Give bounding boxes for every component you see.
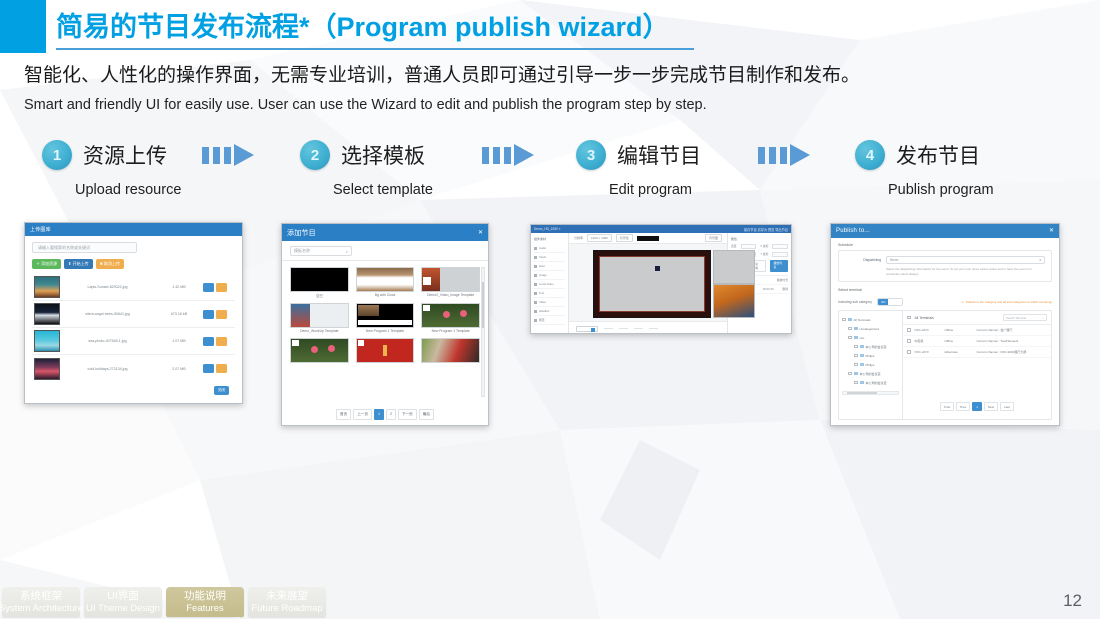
warning-text: Publish to the category and all sub-cate… <box>966 300 1052 304</box>
property-key: 宽度 <box>731 244 737 249</box>
sidebar-item-label: Image <box>539 273 547 277</box>
upload-window-title: 上传图库 <box>30 226 51 233</box>
scrollbar[interactable] <box>481 267 485 397</box>
file-thumbnail <box>34 330 60 352</box>
sub-category-toggle[interactable]: ON <box>877 298 903 306</box>
upload-file-list: Lapis-Sunset-829322.jpg 1.42 MB silent-a… <box>32 274 235 382</box>
template-thumbnail <box>290 267 349 292</box>
pagination-page-2[interactable]: 2 <box>386 409 396 420</box>
terminal-table-title: All Terminals <box>915 316 934 320</box>
tree-node-philips-2[interactable]: Philips <box>842 360 899 369</box>
text-icon <box>534 292 537 295</box>
table-row[interactable]: silent-angel-trees-50641.jpg 673.16 kB <box>32 301 235 328</box>
template-thumbnail <box>290 338 349 363</box>
checkbox[interactable] <box>848 327 852 331</box>
file-size: 2.07 MB <box>172 367 185 371</box>
file-size: 1.07 MB <box>172 339 185 343</box>
footer-tab-system-architecture[interactable]: 系统框架 System Architecture <box>2 587 80 617</box>
template-thumbnail <box>356 338 415 363</box>
close-button[interactable]: 关闭 <box>214 386 229 395</box>
row-actions <box>203 283 233 292</box>
step-2: 2 选择模板 Select template <box>300 134 433 204</box>
checkbox[interactable] <box>848 372 852 376</box>
tree-node-label: ceo <box>860 336 865 340</box>
list-item[interactable]: Bg with Clock <box>356 267 415 298</box>
sidebar-item-audio[interactable]: Audio <box>534 244 565 253</box>
footer-tab-label-cn: 未来展望 <box>266 590 308 603</box>
cancel-upload-button[interactable]: ✖ 取消上传 <box>96 259 124 269</box>
tree-node-label: Philips <box>866 354 875 358</box>
tree-node-label: 本公司的会议室 <box>860 372 881 376</box>
sidebar-item-label: Video <box>539 300 546 304</box>
pagination-last[interactable]: 最后 <box>419 409 434 420</box>
terminal-table: All Terminals Search Terminal ⌕ NXC-2273… <box>903 311 1051 419</box>
warning-icon: ⚠ <box>961 300 964 304</box>
publish-window-body: Schedule Dispatching Never ▾ Select the … <box>831 238 1059 426</box>
table-row[interactable]: Lapis-Sunset-829322.jpg 1.42 MB <box>32 274 235 301</box>
sidebar-item-local-video[interactable]: Local Video <box>534 280 565 289</box>
delete-icon[interactable] <box>216 337 227 346</box>
template-label: New Program 1 Template <box>356 329 415 333</box>
toggle-track <box>888 299 902 305</box>
template-label: New Program 1 Template <box>421 329 480 333</box>
pagination-last[interactable]: Last <box>1000 402 1014 411</box>
step-arrow-2-icon <box>482 144 538 166</box>
list-item[interactable]: Demo2_Video_image Template <box>421 267 480 298</box>
resolution-label: 分辨率 <box>574 236 583 240</box>
wizard-steps: 1 资源上传 Upload resource 2 选择模板 Select tem… <box>0 134 1100 204</box>
add-resource-button[interactable]: ＋ 添加资源 <box>32 259 61 269</box>
editor-component-sidebar: 组件素材 Audio Clock Html Image Local Video … <box>531 233 569 334</box>
step-3-label-cn: 编辑节目 <box>617 140 701 170</box>
folder-icon <box>848 318 852 321</box>
timeline-tick <box>634 328 643 329</box>
dispatching-row: Dispatching Never ▾ <box>845 256 1045 264</box>
template-thumbnail <box>290 303 349 328</box>
list-item[interactable]: New Program 1 Template <box>356 303 415 333</box>
page-title: 简易的节目发布流程*（Program publish wizard） <box>56 8 696 46</box>
file-name: sea-photo-407545-1.jpg <box>60 339 155 343</box>
terminal-channel: Current channel : NXC-9030展厅大屏 <box>977 350 1048 354</box>
resolution-value[interactable]: 1920 × 1080 <box>587 234 612 242</box>
template-thumbnail <box>421 267 480 292</box>
tree-node-label: All Terminals <box>854 318 871 322</box>
checkbox[interactable] <box>854 345 858 349</box>
footer-tab-label-cn: 功能说明 <box>184 590 226 603</box>
start-upload-button[interactable]: ⬆ 开始上传 <box>64 259 92 269</box>
sub-category-row: Including sub category ON ⚠ Publish to t… <box>838 298 1052 306</box>
terminal-tree: All Terminals Uncategorized ceo 本公司的会议室 … <box>839 311 903 419</box>
publish-window-title: Publish to... <box>836 228 870 234</box>
step-4-label-en: Publish program <box>888 182 994 198</box>
step-4-head: 4 发布节目 <box>855 134 994 176</box>
schedule-box: Dispatching Never ▾ Select the dispatchi… <box>838 250 1052 282</box>
stage-side-panel-top[interactable] <box>713 250 755 284</box>
property-input[interactable] <box>772 244 788 249</box>
file-thumbnail <box>34 276 60 298</box>
template-thumbnail <box>421 303 480 328</box>
footer-tab-ui-theme-design[interactable]: UI界面 UI Theme Design <box>84 587 162 617</box>
terminal-name: NXC-2273 <box>915 328 941 332</box>
row-actions <box>203 337 233 346</box>
title-block: 简易的节目发布流程*（Program publish wizard） <box>56 8 696 50</box>
table-row[interactable]: 中控机 Offline Current channel : Test1Sunse… <box>903 336 1051 347</box>
stage-inner-region[interactable] <box>599 256 705 312</box>
tree-node-all-terminals[interactable]: All Terminals <box>842 315 899 324</box>
template-thumbnail <box>356 303 415 328</box>
template-window-titlebar: 添加节目 ✕ <box>282 224 488 241</box>
property-row: 宽度 X 坐标 <box>731 244 788 249</box>
upload-footer: 关闭 <box>32 382 235 395</box>
footer-tab-future-roadmap[interactable]: 未来展望 Future Roadmap <box>248 587 326 617</box>
footer-tab-label-en: Future Roadmap <box>251 603 322 615</box>
pagination-page-1[interactable]: 1 <box>374 409 384 420</box>
step-arrow-3-icon <box>758 144 814 166</box>
footer-tab-label-cn: 系统框架 <box>20 590 62 603</box>
checkbox[interactable] <box>854 381 858 385</box>
row-actions <box>203 310 233 319</box>
footer-tabs: 系统框架 System Architecture UI界面 UI Theme D… <box>2 587 326 617</box>
editor-timeline[interactable] <box>569 321 727 334</box>
folder-icon <box>860 381 864 384</box>
step-3-head: 3 编辑节目 <box>576 134 701 176</box>
file-size: 1.42 MB <box>172 285 185 289</box>
row-actions <box>203 364 233 373</box>
step-2-label-cn: 选择模板 <box>341 140 425 170</box>
clock-icon <box>534 256 537 259</box>
terminal-status: Offline <box>945 339 973 343</box>
checkbox[interactable] <box>907 328 911 332</box>
timeline-slider[interactable] <box>576 326 598 332</box>
upload-search-input[interactable]: 请输入要搜索的名称或关键词 <box>32 242 137 253</box>
step-3-label-en: Edit program <box>609 182 701 198</box>
title-accent-band <box>0 0 46 53</box>
template-search-placeholder: 模板名称 <box>294 248 310 254</box>
terminal-name: 中控机 <box>915 339 941 343</box>
audio-icon <box>534 247 537 250</box>
select-all-checkbox[interactable] <box>907 316 911 320</box>
chevron-down-icon[interactable]: ▾ <box>1039 258 1041 262</box>
step-3-badge: 3 <box>576 140 606 170</box>
tree-node-philips-1[interactable]: Philips <box>842 351 899 360</box>
including-sub-category-label: Including sub category <box>838 300 872 304</box>
file-name: cold-holidays-273134.jpg <box>60 367 155 371</box>
tree-horizontal-scrollbar[interactable] <box>842 391 899 395</box>
editor-center: 分辨率 1920 × 1080 背景色 背景图 <box>569 233 727 334</box>
timeline-tick <box>604 328 613 329</box>
checkbox[interactable] <box>848 336 852 340</box>
edit-icon[interactable] <box>203 337 214 346</box>
editor-titlebar: Demo_HD_1080 × 保存节目 另存为 预览 导出节目 <box>531 225 791 233</box>
publish-footer: Save Cancel <box>838 420 1052 426</box>
property-key: Y 坐标 <box>760 252 768 257</box>
pagination-prev[interactable]: 上一页 <box>353 409 372 420</box>
footer-tab-label-cn: UI界面 <box>107 590 139 603</box>
tree-node-meeting-room-2[interactable]: 本公司的会议室 <box>842 369 899 378</box>
edit-icon[interactable] <box>203 310 214 319</box>
screenshot-upload-resource[interactable]: 上传图库 请输入要搜索的名称或关键词 ＋ 添加资源 ⬆ 开始上传 ✖ 取消上传 … <box>24 222 243 404</box>
select-terminal-title: Select terminal <box>838 288 1052 292</box>
list-item[interactable]: 空白 <box>290 267 349 298</box>
footer-tab-label-en: System Architecture <box>0 603 83 615</box>
table-row[interactable]: sea-photo-407545-1.jpg 1.07 MB <box>32 328 235 355</box>
sidebar-item-label: 网页 <box>539 318 545 322</box>
page-number: 12 <box>1063 591 1082 611</box>
sidebar-item-video[interactable]: Video <box>534 298 565 307</box>
tree-node-label: Philips <box>866 363 875 367</box>
upload-toolbar: ＋ 添加资源 ⬆ 开始上传 ✖ 取消上传 <box>32 259 235 269</box>
editor-toolbar: 分辨率 1920 × 1080 背景色 背景图 <box>569 233 727 244</box>
column-header-duration: 播放时长 <box>777 278 788 282</box>
close-icon[interactable]: ✕ <box>1049 228 1054 234</box>
playlist-item-time: 00:00:30 <box>763 287 774 291</box>
tree-node-ceo[interactable]: ceo <box>842 333 899 342</box>
folder-icon <box>854 336 858 339</box>
title-underline <box>56 48 694 50</box>
file-size-cell: 1.07 MB <box>155 339 203 343</box>
editor-canvas[interactable] <box>569 244 727 321</box>
webpage-icon <box>534 319 537 322</box>
template-grid-wrap: 空白 Bg with Clock Demo2_Video_image Templ… <box>282 260 488 403</box>
property-input[interactable] <box>741 244 757 249</box>
terminal-status: Hibernate <box>945 350 973 354</box>
cursor-icon <box>655 266 660 271</box>
file-thumbnail <box>34 303 60 325</box>
template-thumbnail <box>356 267 415 292</box>
folder-icon <box>860 354 864 357</box>
pagination-first[interactable]: First <box>940 402 954 411</box>
upload-window-body: 请输入要搜索的名称或关键词 ＋ 添加资源 ⬆ 开始上传 ✖ 取消上传 Lapis… <box>25 236 242 395</box>
folder-icon <box>854 327 858 330</box>
background-color-swatch[interactable] <box>637 236 659 241</box>
step-1-head: 1 资源上传 <box>42 134 181 176</box>
step-4-label-cn: 发布节目 <box>896 140 980 170</box>
step-2-head: 2 选择模板 <box>300 134 433 176</box>
terminal-search-placeholder: Search Terminal <box>1006 316 1026 320</box>
file-size-cell: 1.42 MB <box>155 285 203 289</box>
upload-window-titlebar: 上传图库 <box>25 223 242 236</box>
folder-icon <box>860 345 864 348</box>
sidebar-item-html[interactable]: Html <box>534 262 565 271</box>
weather-icon <box>534 310 537 313</box>
terminal-channel: Current channel : Test1Sunset1 <box>977 339 1048 343</box>
list-item[interactable] <box>421 338 480 364</box>
tree-node-label: 本公司的会议室 <box>866 381 887 385</box>
file-size-cell: 2.07 MB <box>155 367 203 371</box>
terminal-pagination: First Prev 1 Next Last <box>903 396 1051 419</box>
list-item[interactable] <box>290 338 349 364</box>
step-1: 1 资源上传 Upload resource <box>42 134 181 204</box>
pagination-page-1[interactable]: 1 <box>972 402 982 411</box>
playlist-item-delete[interactable]: 删除 <box>782 287 788 291</box>
pagination-prev[interactable]: Prev <box>956 402 970 411</box>
checkbox[interactable] <box>842 318 846 322</box>
file-size: 673.16 kB <box>171 312 187 316</box>
template-grid: 空白 Bg with Clock Demo2_Video_image Templ… <box>290 267 480 364</box>
property-key: X 坐标 <box>760 244 768 249</box>
sidebar-item-webpage[interactable]: 网页 <box>534 316 565 325</box>
edit-icon[interactable] <box>203 364 214 373</box>
folder-icon <box>860 363 864 366</box>
step-2-label-en: Select template <box>333 182 433 198</box>
template-label: Demo2_Video_image Template <box>421 293 480 297</box>
subtitle-english: Smart and friendly UI for easily use. Us… <box>24 97 707 113</box>
checkbox[interactable] <box>907 350 911 354</box>
schedule-section-title: Schedule <box>838 243 1052 247</box>
step-3: 3 编辑节目 Edit program <box>576 134 701 204</box>
background-color-label[interactable]: 背景色 <box>616 234 633 242</box>
terminal-status: Offline <box>945 328 973 332</box>
screenshot-publish-program[interactable]: Publish to... ✕ Schedule Dispatching Nev… <box>830 223 1060 426</box>
sidebar-item-label: Audio <box>539 246 546 250</box>
file-name: Lapis-Sunset-829322.jpg <box>60 285 155 289</box>
template-search-input[interactable]: 模板名称 ⌕ <box>290 246 352 256</box>
edit-icon[interactable] <box>203 283 214 292</box>
checkbox[interactable] <box>907 339 911 343</box>
step-1-label-cn: 资源上传 <box>83 140 167 170</box>
dispatching-value: Never <box>890 258 899 262</box>
sidebar-item-label: Text <box>539 291 544 295</box>
step-arrow-1-icon <box>202 144 258 166</box>
terminal-table-header: All Terminals Search Terminal ⌕ <box>903 311 1051 325</box>
background-image-button[interactable]: 背景图 <box>705 234 722 242</box>
sidebar-item-label: Local Video <box>539 282 554 286</box>
screenshot-select-template[interactable]: 添加节目 ✕ 模板名称 ⌕ 空白 Bg with Clock Demo2_ <box>281 223 489 426</box>
list-item[interactable]: New Program 1 Template <box>421 303 480 333</box>
checkbox[interactable] <box>854 363 858 367</box>
sidebar-item-label: Clock <box>539 255 546 259</box>
sidebar-item-weather[interactable]: Weather <box>534 307 565 316</box>
delete-icon[interactable] <box>216 310 227 319</box>
search-icon[interactable]: ⌕ <box>1042 316 1044 320</box>
sidebar-item-text[interactable]: Text <box>534 289 565 298</box>
close-icon[interactable]: ✕ <box>478 230 483 236</box>
sidebar-title: 组件素材 <box>534 237 565 241</box>
file-size-cell: 673.16 kB <box>155 312 203 316</box>
tree-node-uncategorized[interactable]: Uncategorized <box>842 324 899 333</box>
template-label: Demo_WonkUp Template <box>290 329 349 333</box>
properties-title: 属性 <box>731 237 788 241</box>
step-4: 4 发布节目 Publish program <box>855 134 994 204</box>
search-icon[interactable]: ⌕ <box>346 249 348 254</box>
file-name: silent-angel-trees-50641.jpg <box>60 312 155 316</box>
footer-tab-label-en: Features <box>186 603 224 615</box>
program-stage[interactable] <box>593 250 711 318</box>
pagination-next[interactable]: Next <box>984 402 998 411</box>
video-icon <box>534 301 537 304</box>
step-1-badge: 1 <box>42 140 72 170</box>
folder-icon <box>854 372 858 375</box>
tree-node-label: Uncategorized <box>860 327 879 331</box>
html-icon <box>534 265 537 268</box>
step-1-label-en: Upload resource <box>75 182 181 198</box>
playlist-button[interactable]: 播放列表 <box>770 260 789 272</box>
dispatching-label: Dispatching <box>845 258 881 262</box>
file-thumbnail <box>34 358 60 380</box>
table-row[interactable]: NXC-2273 Hibernate Current channel : NXC… <box>903 347 1051 358</box>
screenshot-edit-program[interactable]: Demo_HD_1080 × 保存节目 另存为 预览 导出节目 组件素材 Aud… <box>530 224 792 334</box>
step-4-badge: 4 <box>855 140 885 170</box>
publish-window-titlebar: Publish to... ✕ <box>831 224 1059 238</box>
dispatching-select[interactable]: Never ▾ <box>886 256 1045 264</box>
terminal-channel: Current channel : 会广展厅 <box>977 328 1048 332</box>
list-item[interactable] <box>356 338 415 364</box>
template-thumbnail <box>421 338 480 363</box>
sidebar-item-label: Html <box>539 264 545 268</box>
footer-tab-label-en: UI Theme Design <box>86 603 160 615</box>
template-pagination: 首页 上一页 1 2 下一页 最后 <box>282 403 488 420</box>
sidebar-item-clock[interactable]: Clock <box>534 253 565 262</box>
template-search-row: 模板名称 ⌕ <box>282 241 488 260</box>
local-video-icon <box>534 283 537 286</box>
editor-body: 组件素材 Audio Clock Html Image Local Video … <box>531 233 791 334</box>
tree-node-meeting-room-1[interactable]: 本公司的会议室 <box>842 342 899 351</box>
delete-icon[interactable] <box>216 364 227 373</box>
timeline-tick <box>649 328 658 329</box>
pagination-first[interactable]: 首页 <box>336 409 351 420</box>
table-row[interactable]: NXC-2273 Offline Current channel : 会广展厅 <box>903 325 1051 336</box>
template-label: 空白 <box>290 293 349 298</box>
delete-icon[interactable] <box>216 283 227 292</box>
footer-tab-features[interactable]: 功能说明 Features <box>166 587 244 617</box>
template-label: Bg with Clock <box>356 293 415 297</box>
table-row[interactable]: cold-holidays-273134.jpg 2.07 MB <box>32 355 235 382</box>
editor-window-title: Demo_HD_1080 × <box>534 227 561 231</box>
terminal-search-input[interactable]: Search Terminal ⌕ <box>1003 314 1047 321</box>
sidebar-item-label: Weather <box>539 309 550 313</box>
list-item[interactable]: Demo_WonkUp Template <box>290 303 349 333</box>
stage-side-panel-image[interactable] <box>713 284 755 318</box>
pagination-next[interactable]: 下一页 <box>398 409 417 420</box>
property-input[interactable] <box>772 252 788 257</box>
sidebar-item-image[interactable]: Image <box>534 271 565 280</box>
tree-node-label: 本公司的会议室 <box>866 345 887 349</box>
toggle-on-label: ON <box>878 299 889 305</box>
dispatching-help-text: Select the dispatching information for t… <box>886 267 1045 276</box>
warning-message: ⚠ Publish to the category and all sub-ca… <box>961 300 1052 304</box>
timeline-tick <box>619 328 628 329</box>
step-2-badge: 2 <box>300 140 330 170</box>
terminal-name: NXC-2273 <box>915 350 941 354</box>
template-window-title: 添加节目 <box>287 228 316 238</box>
subtitle-chinese: 智能化、人性化的操作界面，无需专业培训，普通人员即可通过引导一步一步完成节目制作… <box>24 60 860 87</box>
checkbox[interactable] <box>854 354 858 358</box>
terminal-selector: All Terminals Uncategorized ceo 本公司的会议室 … <box>838 310 1052 420</box>
image-icon <box>534 274 537 277</box>
editor-titlebar-actions[interactable]: 保存节目 另存为 预览 导出节目 <box>744 227 788 232</box>
tree-node-meeting-room-3[interactable]: 本公司的会议室 <box>842 378 899 387</box>
